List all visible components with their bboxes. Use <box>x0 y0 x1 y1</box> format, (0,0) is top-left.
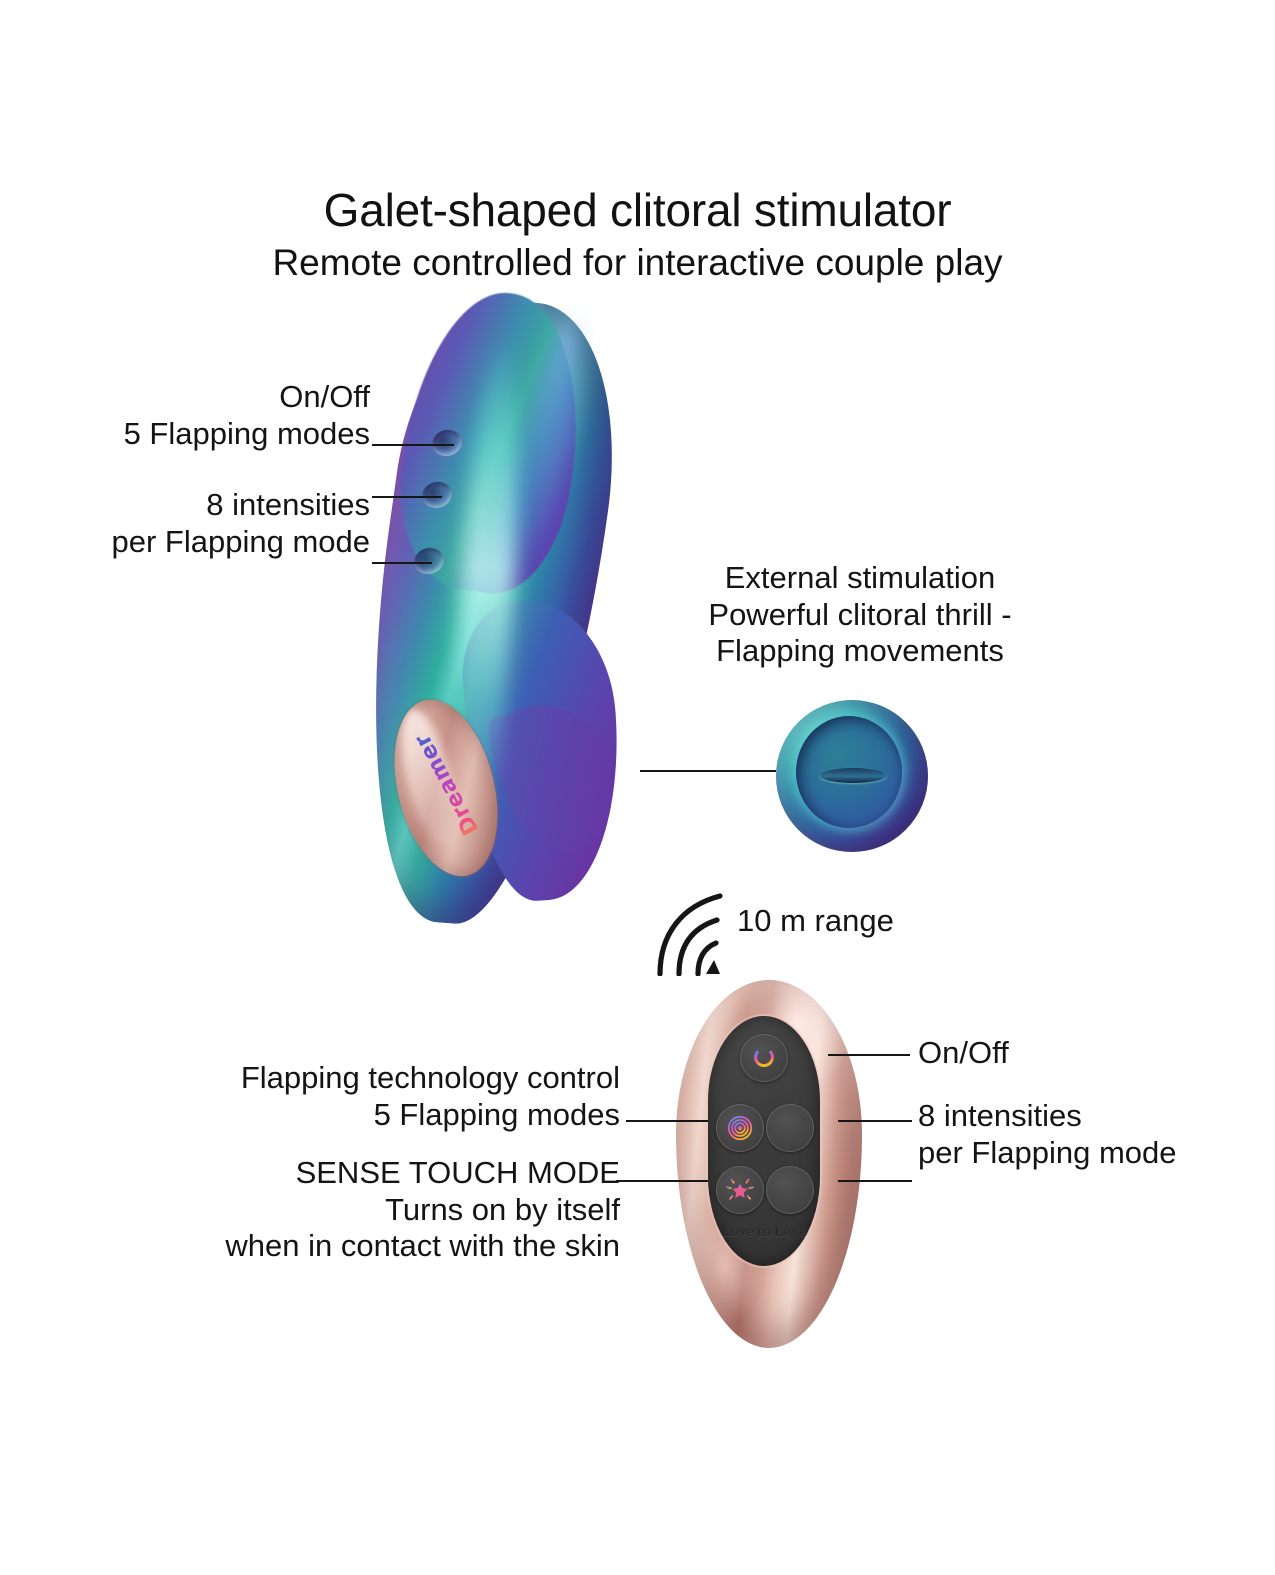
spiral-icon <box>726 1114 754 1142</box>
annotation-remote-onoff: On/Off <box>918 1035 1248 1072</box>
remote-button-panel: Love to Love <box>708 1016 820 1266</box>
remote-brand-label: Love to Love <box>708 1224 820 1241</box>
minus-icon <box>776 1176 804 1204</box>
leader-line-remote-plus <box>838 1120 912 1122</box>
title-block: Galet-shaped clitoral stimulator Remote … <box>0 186 1275 283</box>
star-icon <box>725 1175 755 1205</box>
remote-power-button[interactable] <box>740 1034 788 1082</box>
annotation-remote-intensities: 8 intensities per Flapping mode <box>918 1098 1258 1171</box>
infographic-page: Galet-shaped clitoral stimulator Remote … <box>0 0 1275 1575</box>
remote-sense-touch-button[interactable] <box>716 1166 764 1214</box>
flapping-nozzle-detail <box>776 700 928 852</box>
annotation-range: 10 m range <box>737 903 1037 940</box>
page-title: Galet-shaped clitoral stimulator <box>0 186 1275 236</box>
leader-line-remote-onoff <box>828 1054 910 1056</box>
leader-line-flapping-mode <box>626 1120 708 1122</box>
annotation-sense-touch-mode: SENSE TOUCH MODE Turns on by itself when… <box>130 1155 620 1265</box>
leader-line-nozzle <box>640 770 776 772</box>
stimulator-device-image: Dreamer <box>352 300 652 940</box>
leader-line-remote-minus <box>838 1180 912 1182</box>
remote-flapping-mode-button[interactable] <box>716 1104 764 1152</box>
leader-line-device-intensity-up <box>372 496 442 498</box>
nozzle-cavity <box>796 716 902 828</box>
leader-line-device-intensity-down <box>372 562 432 564</box>
nozzle-slit <box>820 768 886 783</box>
annotation-flapping-technology: Flapping technology control 5 Flapping m… <box>130 1060 620 1133</box>
leader-line-device-onoff <box>372 444 454 446</box>
remote-intensity-up-button[interactable] <box>766 1104 814 1152</box>
annotation-device-intensities: 8 intensities per Flapping mode <box>40 487 370 560</box>
remote-intensity-down-button[interactable] <box>766 1166 814 1214</box>
wireless-signal-icon <box>648 890 738 976</box>
page-subtitle: Remote controlled for interactive couple… <box>0 242 1275 283</box>
remote-control-image: Love to Love <box>676 980 862 1348</box>
power-icon <box>751 1045 777 1071</box>
annotation-device-onoff-modes: On/Off 5 Flapping modes <box>40 379 370 452</box>
plus-icon <box>776 1114 804 1142</box>
leader-line-sense-touch <box>616 1180 708 1182</box>
annotation-external-stimulation: External stimulation Powerful clitoral t… <box>660 560 1060 670</box>
